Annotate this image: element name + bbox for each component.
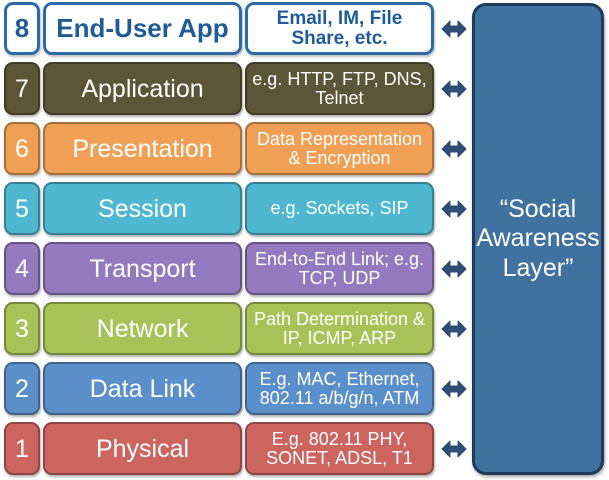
layer-name-box: Transport — [43, 242, 242, 295]
layer-row: 3NetworkPath Determination & IP, ICMP, A… — [0, 302, 470, 355]
layer-row: 4TransportEnd-to-End Link; e.g. TCP, UDP — [0, 242, 470, 295]
layer-number-box: 4 — [4, 242, 40, 295]
double-headed-arrow-icon — [440, 17, 468, 41]
layer-description-box: e.g. HTTP, FTP, DNS, Telnet — [245, 62, 434, 115]
double-headed-arrow-icon — [440, 77, 468, 101]
layer-number-box: 2 — [4, 362, 40, 415]
social-awareness-panel: “Social Awareness Layer” — [472, 3, 604, 475]
double-headed-arrow-icon — [440, 197, 468, 221]
double-headed-arrow-icon — [440, 377, 468, 401]
layer-row: 8End-User AppEmail, IM, File Share, etc. — [0, 2, 470, 55]
layer-description-box: E.g. 802.11 PHY, SONET, ADSL, T1 — [245, 422, 434, 475]
layer-name-box: Network — [43, 302, 242, 355]
social-awareness-panel-label: “Social Awareness Layer” — [470, 195, 605, 284]
double-headed-arrow-icon — [440, 317, 468, 341]
layer-row: 7Applicatione.g. HTTP, FTP, DNS, Telnet — [0, 62, 470, 115]
layer-number-box: 1 — [4, 422, 40, 475]
double-headed-arrow-icon — [440, 437, 468, 461]
layer-name-box: Presentation — [43, 122, 242, 175]
double-headed-arrow-icon — [440, 257, 468, 281]
layer-row: 5Sessione.g. Sockets, SIP — [0, 182, 470, 235]
layer-row: 6PresentationData Representation & Encry… — [0, 122, 470, 175]
osi-social-awareness-diagram: 8End-User AppEmail, IM, File Share, etc.… — [0, 0, 609, 480]
layer-name-box: End-User App — [43, 2, 242, 55]
layer-description-box: Data Representation & Encryption — [245, 122, 434, 175]
layer-name-box: Data Link — [43, 362, 242, 415]
layer-description-box: End-to-End Link; e.g. TCP, UDP — [245, 242, 434, 295]
layer-description-box: Path Determination & IP, ICMP, ARP — [245, 302, 434, 355]
layer-number-box: 8 — [4, 2, 40, 55]
layer-description-box: Email, IM, File Share, etc. — [245, 2, 434, 55]
layer-description-box: E.g. MAC, Ethernet, 802.11 a/b/g/n, ATM — [245, 362, 434, 415]
double-headed-arrow-icon — [440, 137, 468, 161]
layer-row: 2Data LinkE.g. MAC, Ethernet, 802.11 a/b… — [0, 362, 470, 415]
layer-number-box: 5 — [4, 182, 40, 235]
layer-number-box: 6 — [4, 122, 40, 175]
layer-number-box: 3 — [4, 302, 40, 355]
layer-row: 1PhysicalE.g. 802.11 PHY, SONET, ADSL, T… — [0, 422, 470, 475]
layer-name-box: Physical — [43, 422, 242, 475]
layer-stack: 8End-User AppEmail, IM, File Share, etc.… — [0, 0, 470, 480]
layer-number-box: 7 — [4, 62, 40, 115]
layer-name-box: Session — [43, 182, 242, 235]
layer-description-box: e.g. Sockets, SIP — [245, 182, 434, 235]
layer-name-box: Application — [43, 62, 242, 115]
